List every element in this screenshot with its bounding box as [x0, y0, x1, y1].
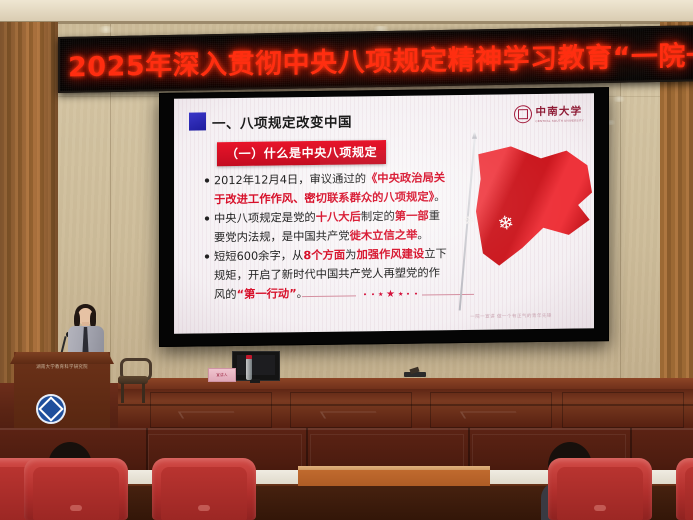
dove-icon-secondary: ❄	[462, 212, 477, 231]
stage-chair	[118, 358, 148, 404]
university-name-en: CENTRAL SOUTH UNIVERSITY	[536, 118, 584, 123]
flag-graphic: ❄ ❄	[460, 133, 592, 313]
table-chevron	[322, 408, 376, 420]
slide-title: 一、八项规定改变中国	[212, 110, 352, 132]
led-banner: 2025年深入贯彻中央八项规定精神学习教育“一院一宣讲”	[58, 25, 693, 93]
ceiling-light	[611, 96, 627, 102]
slide-bullet-item: ●中央八项规定是党的十八大后制定的第一部重	[204, 207, 482, 228]
desk-object	[404, 368, 426, 378]
bullet-text: 规矩，开启了新时代中国共产党人再塑党的作	[214, 264, 440, 284]
slide-bullet-continuation: 规矩，开启了新时代中国共产党人再塑党的作	[204, 264, 482, 285]
audience-seat	[676, 458, 693, 520]
divider-star-small: ★	[398, 289, 403, 301]
table-chevron	[462, 408, 516, 420]
podium-sign: 湖南大学教育科学研究院	[20, 362, 104, 374]
presentation-slide: 一、八项规定改变中国 （一）什么是中央八项规定 ●2012年12月4日，审议通过…	[174, 93, 594, 333]
nameplate-text: 宣讲人	[209, 369, 235, 381]
bullet-text: 风的“第一行动”。	[214, 285, 308, 303]
slide-title-marker	[189, 112, 206, 130]
slide-bullet-item: ●短短600余字，从8个方面为加强作风建设立下	[204, 245, 482, 266]
dove-icon: ❄	[496, 213, 515, 235]
table-panel	[562, 392, 684, 428]
bullet-text: 2012年12月4日，审议通过的《中央政治局关	[214, 169, 445, 189]
bullet-marker-icon: ●	[204, 172, 214, 189]
slide-section-label: （一）什么是中央八项规定	[217, 140, 386, 166]
podium-emblem-icon	[38, 396, 64, 422]
slide-bullet-item: ●2012年12月4日，审议通过的《中央政治局关	[204, 169, 482, 190]
ceiling-edge	[0, 21, 693, 24]
bullet-text: 中央八项规定是党的十八大后制定的第一部重	[214, 207, 440, 227]
slide-bullet-continuation: 要党内法规，是中国共产党徙木立信之举。	[204, 226, 482, 247]
divider-star-main: ★	[386, 289, 395, 301]
slide-bullet-continuation: 于改进工作作风、密切联系群众的八项规定》。	[204, 188, 482, 209]
lecture-hall-photo: 2025年深入贯彻中央八项规定精神学习教育“一院一宣讲” 一、八项规定改变中国 …	[0, 0, 693, 520]
bullet-marker-icon: ●	[204, 248, 214, 265]
wainscot-top-edge	[0, 428, 693, 430]
bullet-text: 要党内法规，是中国共产党徙木立信之举。	[214, 226, 429, 246]
slide-divider: ★ ★ ★	[302, 288, 474, 302]
audience-seat	[548, 458, 652, 520]
bullet-text: 短短600余字，从8个方面为加强作风建设立下	[214, 245, 447, 265]
bottle-cap	[246, 355, 252, 359]
delegate-nameplate: 宣讲人	[208, 368, 236, 382]
monitor-stand	[250, 379, 260, 383]
audience-seat	[24, 458, 128, 520]
audience-seat	[152, 458, 256, 520]
ceiling-light	[96, 26, 116, 33]
desk-monitor	[232, 351, 280, 381]
slide-bullet-list: ●2012年12月4日，审议通过的《中央政治局关于改进工作作风、密切联系群众的八…	[204, 169, 482, 306]
podium-sign-text: 湖南大学教育科学研究院	[20, 362, 104, 374]
university-logo: 中南大学 CENTRAL SOUTH UNIVERSITY	[514, 103, 584, 123]
flag-shading	[476, 145, 592, 271]
water-bottle	[246, 358, 252, 380]
table-chevron	[180, 408, 234, 420]
bullet-text: 于改进工作作风、密切联系群众的八项规定》。	[214, 188, 446, 208]
university-emblem-icon	[514, 105, 532, 123]
bullet-marker-icon: ●	[204, 210, 214, 227]
university-name-cn: 中南大学	[536, 103, 584, 119]
projection-screen-frame: 一、八项规定改变中国 （一）什么是中央八项规定 ●2012年12月4日，审议通过…	[159, 87, 609, 347]
divider-star-small: ★	[378, 289, 383, 301]
ceiling	[0, 0, 693, 22]
